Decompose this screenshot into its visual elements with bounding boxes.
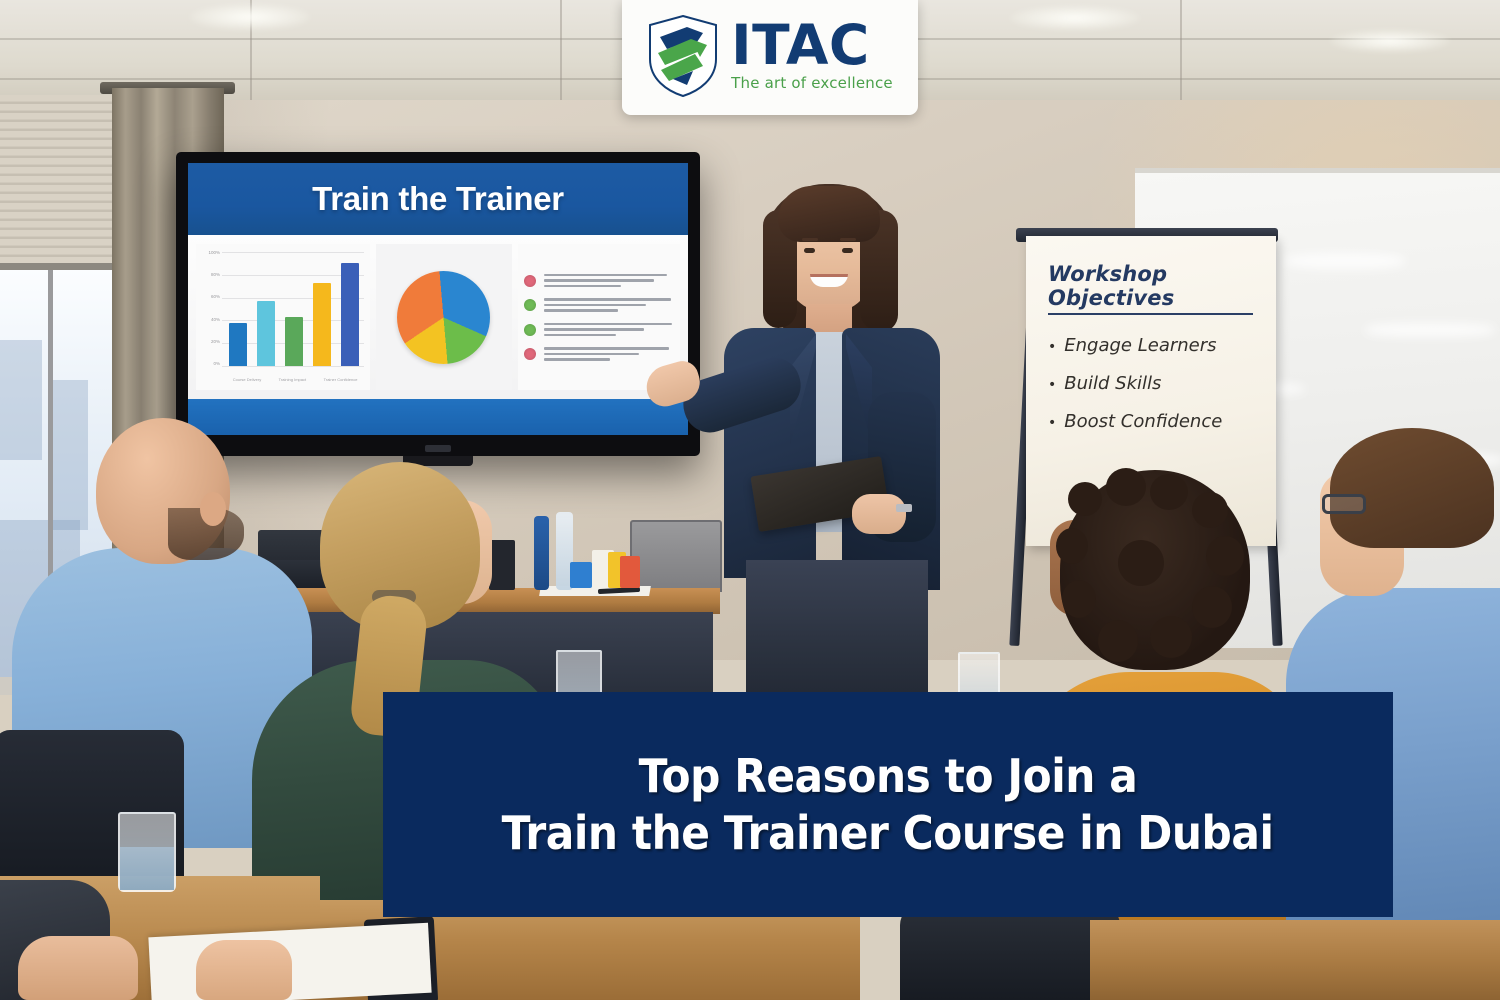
y-tick: 0% <box>198 361 222 366</box>
flipchart-title-underline <box>1048 313 1253 315</box>
logo-tagline: The art of excellence <box>731 74 893 92</box>
desk-bottle-blue <box>534 516 549 590</box>
window-blinds <box>0 95 116 270</box>
attendee-hand <box>196 940 292 1000</box>
tv-speaker <box>425 445 451 452</box>
y-tick: 40% <box>198 317 222 322</box>
y-tick: 60% <box>198 294 222 299</box>
pie-chart-circle <box>397 271 490 364</box>
bar <box>285 317 303 366</box>
flipchart-title: Workshop Objectives <box>1048 262 1264 310</box>
bullet-glyph-icon: • <box>1048 377 1056 393</box>
y-tick: 100% <box>198 250 222 255</box>
bullet-dot-icon <box>524 324 536 336</box>
desk-organizer <box>489 540 515 590</box>
slide-title: Train the Trainer <box>312 180 564 218</box>
eyeglasses <box>1322 494 1366 514</box>
presenter-trainer <box>690 176 990 706</box>
y-tick: 80% <box>198 272 222 277</box>
presenter-trousers <box>746 560 928 710</box>
bullet-dot-icon <box>524 275 536 287</box>
flipchart-item-label: Build Skills <box>1064 373 1161 394</box>
presentation-screen[interactable]: Train the Trainer <box>176 152 700 456</box>
pie-chart <box>376 244 512 390</box>
shield-arrows-logo-icon <box>647 15 719 97</box>
flipchart-item: • Build Skills <box>1048 373 1264 394</box>
bar <box>313 283 331 366</box>
bar <box>229 323 247 366</box>
x-tick: Course Delivery <box>233 377 261 382</box>
x-tick: Trainer Confidence <box>324 377 358 382</box>
logo-wordmark: ITAC <box>731 19 870 71</box>
x-tick: Training Impact <box>279 377 306 382</box>
list-item <box>524 298 672 312</box>
bar <box>257 301 275 366</box>
bullet-dot-icon <box>524 348 536 360</box>
headline-banner: Top Reasons to Join a Train the Trainer … <box>383 692 1393 917</box>
headline-line-1: Top Reasons to Join a <box>639 749 1138 803</box>
slide-footer <box>188 399 688 435</box>
bar-chart-y-axis: 100% 80% 60% 40% 20% 0% <box>198 250 222 366</box>
attendee-hand <box>18 936 138 1000</box>
flipchart-item: • Boost Confidence <box>1048 411 1264 432</box>
chair <box>900 905 1120 1000</box>
list-item <box>524 347 672 361</box>
y-tick: 20% <box>198 339 222 344</box>
list-item <box>524 274 672 288</box>
bullet-glyph-icon: • <box>1048 339 1056 355</box>
flipchart-item-label: Boost Confidence <box>1064 411 1222 432</box>
foreground-table-right <box>1090 920 1500 1000</box>
headline-line-2: Train the Trainer Course in Dubai <box>502 806 1274 860</box>
wristwatch <box>896 504 912 512</box>
bar <box>341 263 359 366</box>
desk-cube-blue <box>570 562 592 588</box>
bullet-glyph-icon: • <box>1048 415 1056 431</box>
flipchart-item-label: Engage Learners <box>1064 335 1216 356</box>
bar-chart: 100% 80% 60% 40% 20% 0% <box>196 244 370 390</box>
list-item <box>524 323 672 337</box>
flipchart-item: • Engage Learners <box>1048 335 1264 356</box>
bar-chart-x-axis: Course Delivery Training Impact Trainer … <box>224 377 366 382</box>
presenter-holding-hand <box>852 494 906 534</box>
itac-logo-badge[interactable]: ITAC The art of excellence <box>622 0 918 115</box>
bar-chart-bars <box>224 254 364 366</box>
desk-cube-red <box>620 556 640 588</box>
slide-header: Train the Trainer <box>188 163 688 235</box>
slide-body: 100% 80% 60% 40% 20% 0% <box>188 235 688 399</box>
bullet-dot-icon <box>524 299 536 311</box>
promotional-banner-image: Train the Trainer <box>0 0 1500 1000</box>
water-glass <box>118 812 176 892</box>
